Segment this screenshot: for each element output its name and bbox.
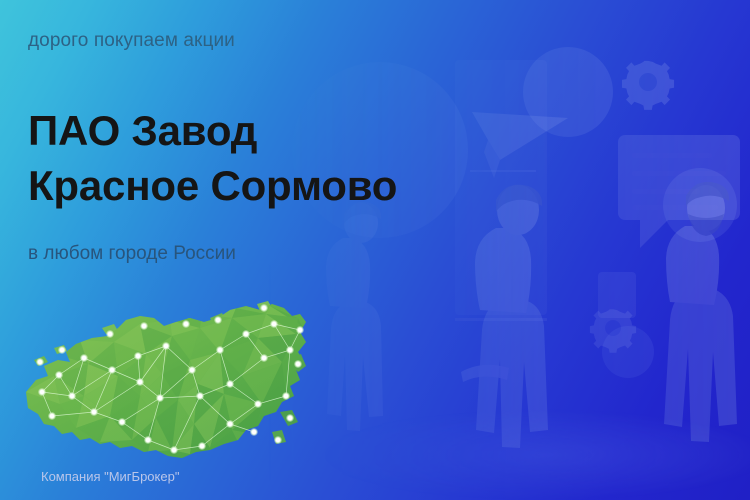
- person-right-bearded: [664, 182, 737, 442]
- circle-small-mid: [602, 326, 654, 378]
- floor-shadow: [310, 409, 750, 500]
- kicker-text: дорого покупаем акции: [28, 30, 235, 52]
- subtitle-text: в любом городе России: [28, 243, 236, 265]
- company-footer: Компания "МигБрокер": [41, 469, 179, 484]
- page-title-line-2: Красное Сормово: [28, 158, 397, 213]
- speech-bubble: [618, 135, 740, 248]
- panel-board-2: [598, 272, 636, 318]
- page-title-line-1: ПАО Завод: [28, 103, 397, 158]
- person-left-standing: [326, 202, 383, 431]
- circle-top-mid: [523, 47, 613, 137]
- promo-banner: дорого покупаем акции ПАО Завод Красное …: [0, 0, 750, 500]
- circle-right: [663, 168, 737, 242]
- gear-bottom-right: [590, 309, 636, 352]
- panel-board: [455, 60, 547, 315]
- decor-line-1: [455, 318, 547, 321]
- gear-top-right: [622, 61, 674, 110]
- decor-line-2: [470, 170, 536, 172]
- map-landmass: [14, 300, 314, 465]
- russia-map: [14, 300, 314, 465]
- paper-plane: [472, 112, 568, 178]
- person-center-handshake: [461, 185, 548, 448]
- page-title: ПАО Завод Красное Сормово: [28, 103, 397, 214]
